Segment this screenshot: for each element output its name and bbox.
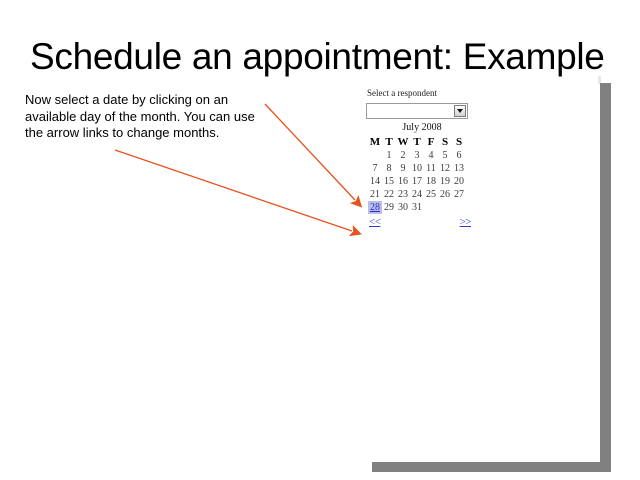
calendar-day-cell[interactable]: 19 [438, 175, 452, 188]
arrow-to-month-nav [115, 150, 352, 231]
calendar-day-cell[interactable]: 27 [452, 188, 466, 201]
arrow-to-calendar-days [265, 104, 355, 200]
calendar-day-cell[interactable]: 15 [382, 175, 396, 188]
slide-title: Schedule an appointment: Example [30, 36, 610, 78]
slide-canvas: Schedule an appointment: Example Now sel… [0, 0, 640, 480]
calendar-month-label: July 2008 [366, 121, 478, 134]
calendar-day-cell[interactable]: 18 [424, 175, 438, 188]
respondent-select[interactable] [366, 103, 468, 119]
calendar-day-cell[interactable]: 7 [368, 162, 382, 175]
calendar-week-row: 14 15 16 17 18 19 20 [368, 175, 466, 188]
weekday-header: W [396, 135, 410, 149]
weekday-header: S [438, 135, 452, 149]
calendar-day-cell [452, 201, 466, 214]
calendar-day-cell[interactable]: 3 [410, 149, 424, 162]
appointment-widget: Select a respondent July 2008 M T W T F … [366, 88, 478, 229]
calendar-day-cell[interactable]: 26 [438, 188, 452, 201]
calendar-day-cell[interactable]: 5 [438, 149, 452, 162]
calendar-day-cell-selected[interactable]: 28 [368, 201, 382, 214]
calendar-prev-month-link[interactable]: << [369, 216, 380, 228]
calendar-day-cell[interactable]: 8 [382, 162, 396, 175]
calendar-day-cell[interactable]: 14 [368, 175, 382, 188]
calendar-day-cell [424, 201, 438, 214]
screenshot-shadow-bottom [372, 462, 611, 472]
calendar-day-cell[interactable]: 4 [424, 149, 438, 162]
calendar-day-cell[interactable]: 2 [396, 149, 410, 162]
calendar-next-month-link[interactable]: >> [460, 216, 471, 228]
calendar-day-cell[interactable]: 17 [410, 175, 424, 188]
calendar-day-cell[interactable]: 10 [410, 162, 424, 175]
calendar-day-cell[interactable]: 24 [410, 188, 424, 201]
weekday-header: S [452, 135, 466, 149]
calendar-day-cell[interactable]: 20 [452, 175, 466, 188]
calendar-day-cell[interactable]: 6 [452, 149, 466, 162]
instruction-text: Now select a date by clicking on an avai… [25, 92, 270, 142]
calendar-table: M T W T F S S 1 2 3 4 5 6 [368, 135, 466, 214]
calendar-day-cell[interactable]: 9 [396, 162, 410, 175]
calendar-nav: << >> [369, 216, 469, 229]
calendar-day-cell[interactable]: 21 [368, 188, 382, 201]
calendar-week-row: 21 22 23 24 25 26 27 [368, 188, 466, 201]
calendar-day-cell[interactable]: 1 [382, 149, 396, 162]
weekday-header: T [410, 135, 424, 149]
calendar-week-row: 7 8 9 10 11 12 13 [368, 162, 466, 175]
calendar-day-cell[interactable]: 23 [396, 188, 410, 201]
calendar-day-cell [368, 149, 382, 162]
calendar-day-cell[interactable]: 13 [452, 162, 466, 175]
calendar-day-cell [438, 201, 452, 214]
weekday-header: F [424, 135, 438, 149]
calendar-day-cell[interactable]: 11 [424, 162, 438, 175]
respondent-label: Select a respondent [367, 88, 478, 99]
calendar-day-cell[interactable]: 16 [396, 175, 410, 188]
calendar-day-cell[interactable]: 31 [410, 201, 424, 214]
screenshot-shadow-right [600, 83, 611, 462]
calendar-day-cell[interactable]: 30 [396, 201, 410, 214]
calendar-day-cell[interactable]: 29 [382, 201, 396, 214]
calendar-week-row: 28 29 30 31 [368, 201, 466, 214]
weekday-header: M [368, 135, 382, 149]
calendar-day-cell[interactable]: 22 [382, 188, 396, 201]
calendar-day-cell[interactable]: 25 [424, 188, 438, 201]
calendar-weekday-row: M T W T F S S [368, 135, 466, 149]
calendar-week-row: 1 2 3 4 5 6 [368, 149, 466, 162]
calendar-day-cell[interactable]: 12 [438, 162, 452, 175]
respondent-select-value [370, 107, 448, 115]
weekday-header: T [382, 135, 396, 149]
chevron-down-icon[interactable] [454, 105, 466, 117]
